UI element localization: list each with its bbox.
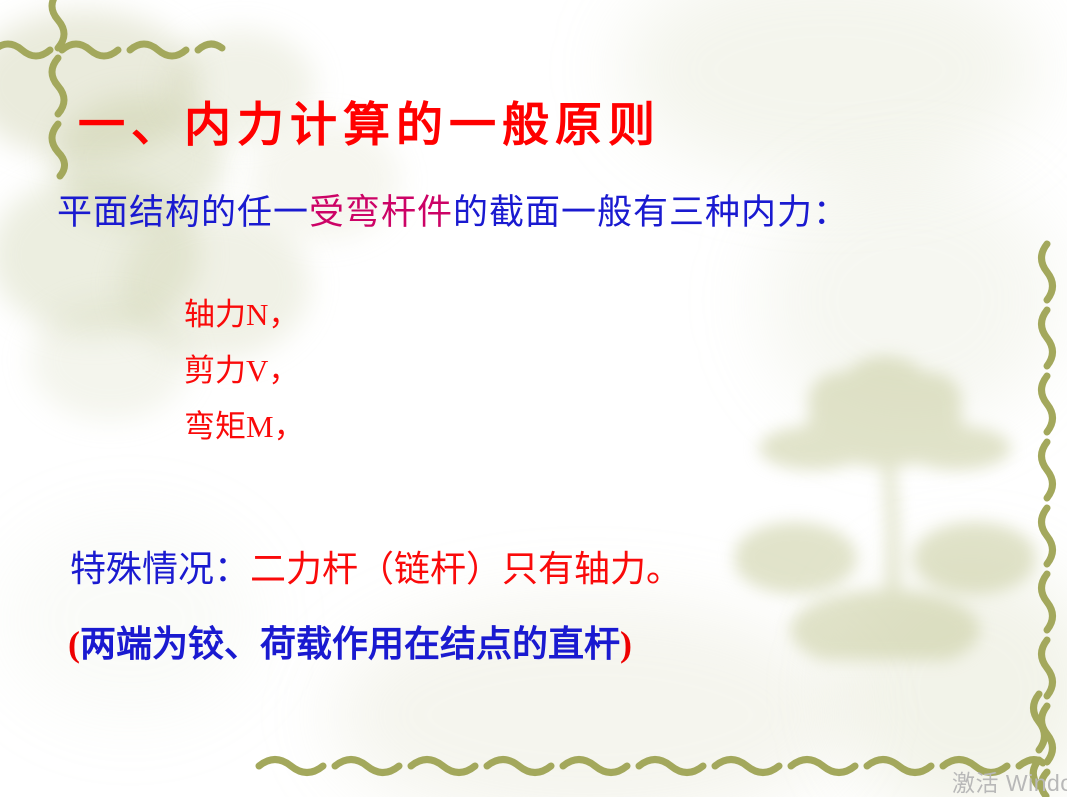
list-item: 弯矩M，	[184, 401, 305, 446]
background-wash	[840, 560, 1067, 797]
note-close-paren: )	[620, 624, 632, 664]
list-item: 剪力V，	[184, 345, 299, 390]
presentation-slide: 一、内力计算的一般原则 平面结构的任一受弯杆件的截面一般有三种内力： 轴力N， …	[0, 0, 1067, 797]
lotus-flower-motif	[735, 330, 1035, 660]
lead-text-before: 平面结构的任一	[57, 193, 309, 232]
note-line: (两端为铰、荷载作用在结点的直杆)	[68, 615, 632, 667]
activate-windows-watermark: 激活 Windo	[952, 764, 1067, 797]
special-case-prefix: 特殊情况：	[70, 549, 250, 589]
decorative-wavy-line-top-vertical	[40, 0, 76, 180]
note-open-paren: (	[68, 624, 80, 664]
list-item: 轴力N，	[184, 289, 299, 334]
lead-paragraph: 平面结构的任一受弯杆件的截面一般有三种内力：	[57, 184, 849, 235]
lead-text-highlight: 受弯杆件	[309, 193, 453, 232]
note-body: 两端为铰、荷载作用在结点的直杆	[80, 624, 620, 664]
decorative-wavy-line-bottom	[255, 748, 1045, 782]
special-case-statement: 二力杆（链杆）只有轴力。	[250, 549, 682, 589]
decorative-wavy-line-right	[1030, 240, 1064, 797]
leaf-motif	[30, 300, 190, 420]
page-title: 一、内力计算的一般原则	[78, 86, 661, 155]
decorative-wavy-line-top	[0, 30, 232, 66]
special-case-line: 特殊情况：二力杆（链杆）只有轴力。	[70, 540, 682, 592]
background-wash	[620, 0, 1040, 180]
lead-text-after: 的截面一般有三种内力：	[453, 193, 849, 232]
